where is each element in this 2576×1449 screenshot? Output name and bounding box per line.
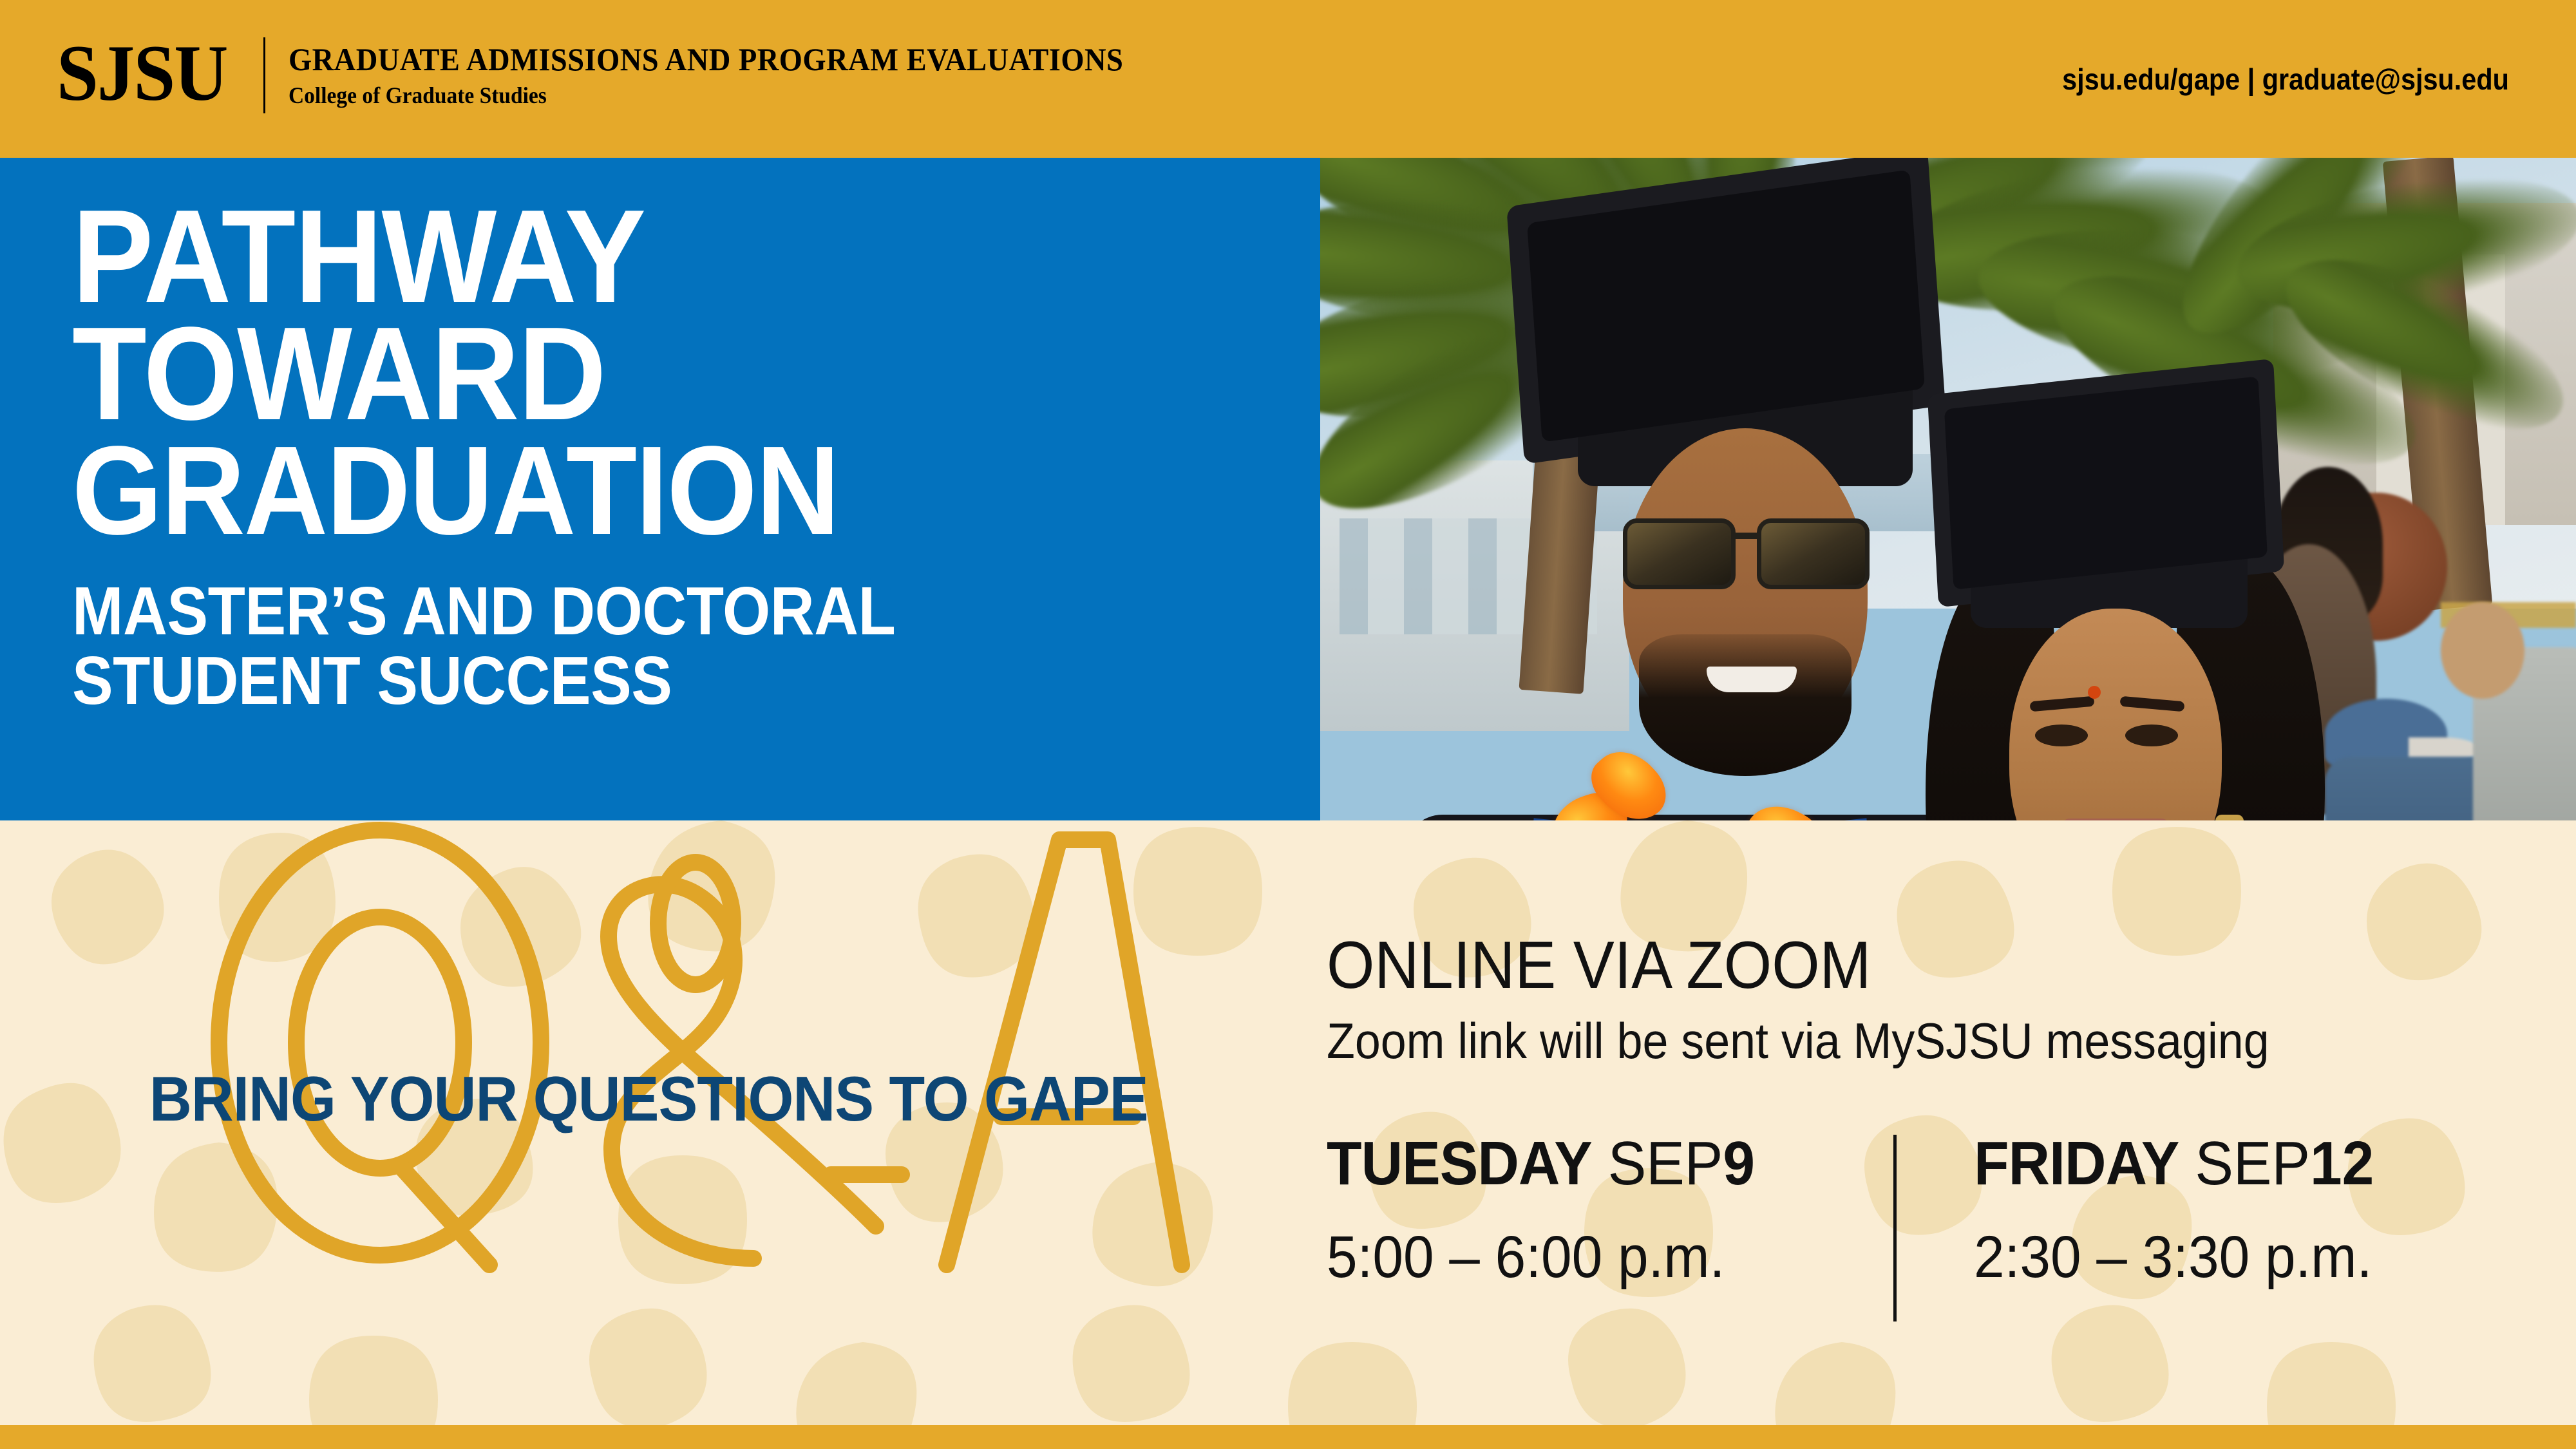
sjsu-logo: SJSU — [57, 33, 227, 117]
hero-blue-panel: PATHWAY TOWARD GRADUATION MASTER’S AND D… — [0, 158, 1320, 820]
grad-woman-eye-left — [2035, 724, 2088, 746]
department-name: GRADUATE ADMISSIONS AND PROGRAM EVALUATI… — [289, 41, 1123, 77]
college-name: College of Graduate Studies — [289, 81, 1123, 109]
headline-line-2: TOWARD — [72, 315, 1186, 432]
event-details: ONLINE VIA ZOOM Zoom link will be sent v… — [1327, 930, 2524, 1070]
subheadline-line-2: STUDENT SUCCESS — [72, 646, 1162, 715]
header-contact: sjsu.edu/gape | graduate@sjsu.edu — [2012, 0, 2509, 158]
grad-woman-earring-right — [2215, 815, 2244, 820]
event-format-note: Zoom link will be sent via MySJSU messag… — [1327, 1011, 2429, 1070]
session-daynumber: 12 — [2310, 1129, 2374, 1198]
qa-outline-graphic — [187, 820, 1191, 1303]
grad-woman-eye-right — [2125, 724, 2178, 746]
grad-woman-bindi — [2088, 686, 2101, 699]
session-list: TUESDAY SEP9 5:00 – 6:00 p.m. FRIDAY SEP… — [1327, 1130, 2550, 1329]
grad-woman-mortarboard-top — [1944, 376, 2268, 589]
logo-divider — [263, 37, 265, 113]
footer-bar — [0, 1425, 2576, 1449]
session-time: 2:30 – 3:30 p.m. — [1974, 1225, 2429, 1289]
session-month: SEP — [2195, 1129, 2310, 1198]
hero-headline: PATHWAY TOWARD GRADUATION MASTER’S AND D… — [72, 198, 1283, 715]
grad-man-gown — [1404, 815, 1984, 820]
session-month: SEP — [1608, 1129, 1723, 1198]
header-bar: SJSU GRADUATE ADMISSIONS AND PROGRAM EVA… — [0, 0, 2576, 158]
headline-line-1: PATHWAY — [72, 198, 1186, 315]
session-daynumber: 9 — [1723, 1129, 1755, 1198]
session-date: FRIDAY SEP12 — [1974, 1130, 2429, 1198]
grad-man-sunglasses — [1623, 518, 1874, 596]
photo-crowd-person — [2441, 602, 2524, 699]
qa-letters-svg — [187, 820, 1191, 1303]
session-dayname: TUESDAY — [1327, 1129, 1592, 1198]
session-item: FRIDAY SEP12 2:30 – 3:30 p.m. — [1897, 1130, 2463, 1289]
grad-man-beard — [1639, 634, 1851, 776]
session-date: TUESDAY SEP9 — [1327, 1130, 1853, 1198]
session-item: TUESDAY SEP9 5:00 – 6:00 p.m. — [1327, 1130, 1893, 1289]
headline-line-3: GRADUATION — [72, 432, 1186, 549]
sunglass-lens-right — [1757, 518, 1870, 589]
promotional-banner: SJSU GRADUATE ADMISSIONS AND PROGRAM EVA… — [0, 0, 2576, 1449]
event-format-heading: ONLINE VIA ZOOM — [1327, 930, 2429, 1001]
sunglass-lens-left — [1623, 518, 1736, 589]
qa-tagline: BRING YOUR QUESTIONS TO GAPE — [149, 1065, 1148, 1132]
grad-man-smile — [1707, 667, 1797, 692]
contact-text[interactable]: sjsu.edu/gape | graduate@sjsu.edu — [2062, 63, 2509, 95]
department-block: GRADUATE ADMISSIONS AND PROGRAM EVALUATI… — [289, 41, 1186, 109]
cream-info-section: BRING YOUR QUESTIONS TO GAPE ONLINE VIA … — [0, 820, 2576, 1425]
session-time: 5:00 – 6:00 p.m. — [1327, 1225, 1853, 1289]
session-dayname: FRIDAY — [1974, 1129, 2179, 1198]
header-brand: SJSU GRADUATE ADMISSIONS AND PROGRAM EVA… — [57, 33, 1186, 117]
subheadline-line-1: MASTER’S AND DOCTORAL — [72, 576, 1162, 646]
graduates-photo — [1320, 158, 2576, 820]
